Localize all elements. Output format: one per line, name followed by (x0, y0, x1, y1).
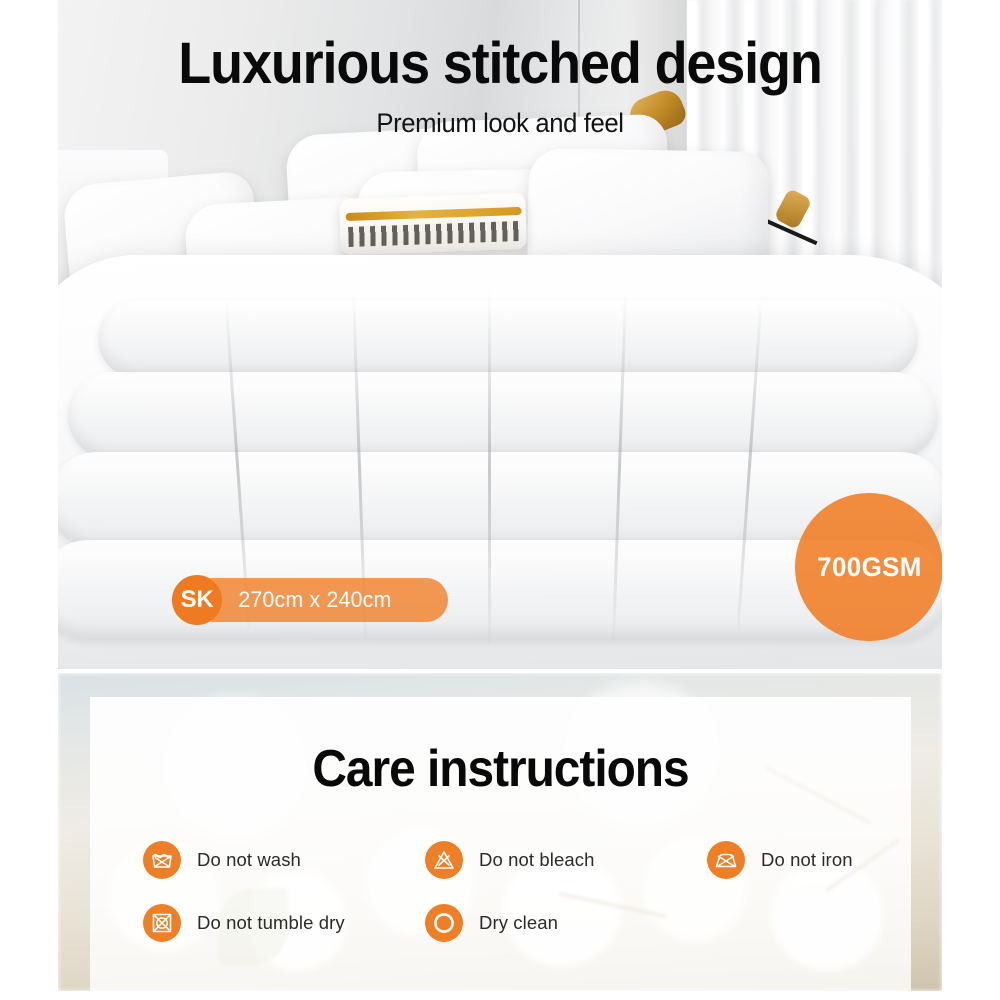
gsm-badge: 700GSM (795, 493, 942, 641)
care-items-grid: Do not wash Do not bleach (143, 828, 903, 954)
care-item-dry-clean: Dry clean (425, 904, 707, 942)
hero-bedroom-photo: Luxurious stitched design Premium look a… (58, 0, 942, 669)
size-badge: SK 270cm x 240cm (172, 576, 394, 624)
care-item-do-not-tumble-dry: Do not tumble dry (143, 904, 425, 942)
do-not-iron-icon (707, 841, 745, 879)
care-instructions-section: Care instructions Do not wash (58, 673, 942, 991)
do-not-wash-icon (143, 841, 181, 879)
dry-clean-icon (425, 904, 463, 942)
cushion-gold-stripe (346, 207, 522, 221)
duvet-baffle-row (98, 300, 918, 378)
do-not-tumble-dry-icon (143, 904, 181, 942)
care-item-label: Do not wash (197, 849, 301, 871)
product-marketing-page: Luxurious stitched design Premium look a… (0, 0, 1000, 1000)
gsm-badge-label: 700GSM (817, 552, 922, 583)
hero-title: Luxurious stitched design (89, 34, 911, 93)
care-title: Care instructions (123, 739, 878, 799)
size-badge-dimensions: 270cm x 240cm (238, 587, 391, 613)
care-item-do-not-wash: Do not wash (143, 841, 425, 879)
do-not-bleach-icon (425, 841, 463, 879)
care-item-label: Do not bleach (479, 849, 594, 871)
care-item-label: Do not iron (761, 849, 853, 871)
duvet-baffle-row (68, 372, 938, 460)
size-badge-code: SK (181, 586, 214, 614)
care-item-label: Dry clean (479, 912, 558, 934)
hero-subtitle: Premium look and feel (80, 108, 920, 139)
care-item-label: Do not tumble dry (197, 912, 345, 934)
care-item-do-not-iron: Do not iron (707, 841, 903, 879)
size-badge-circle: SK (172, 575, 222, 625)
cushion-pattern-stripe (348, 221, 521, 247)
duvet-seam (488, 290, 491, 645)
decorative-cushion (339, 193, 527, 255)
care-panel: Care instructions Do not wash (90, 697, 911, 991)
care-item-do-not-bleach: Do not bleach (425, 841, 707, 879)
